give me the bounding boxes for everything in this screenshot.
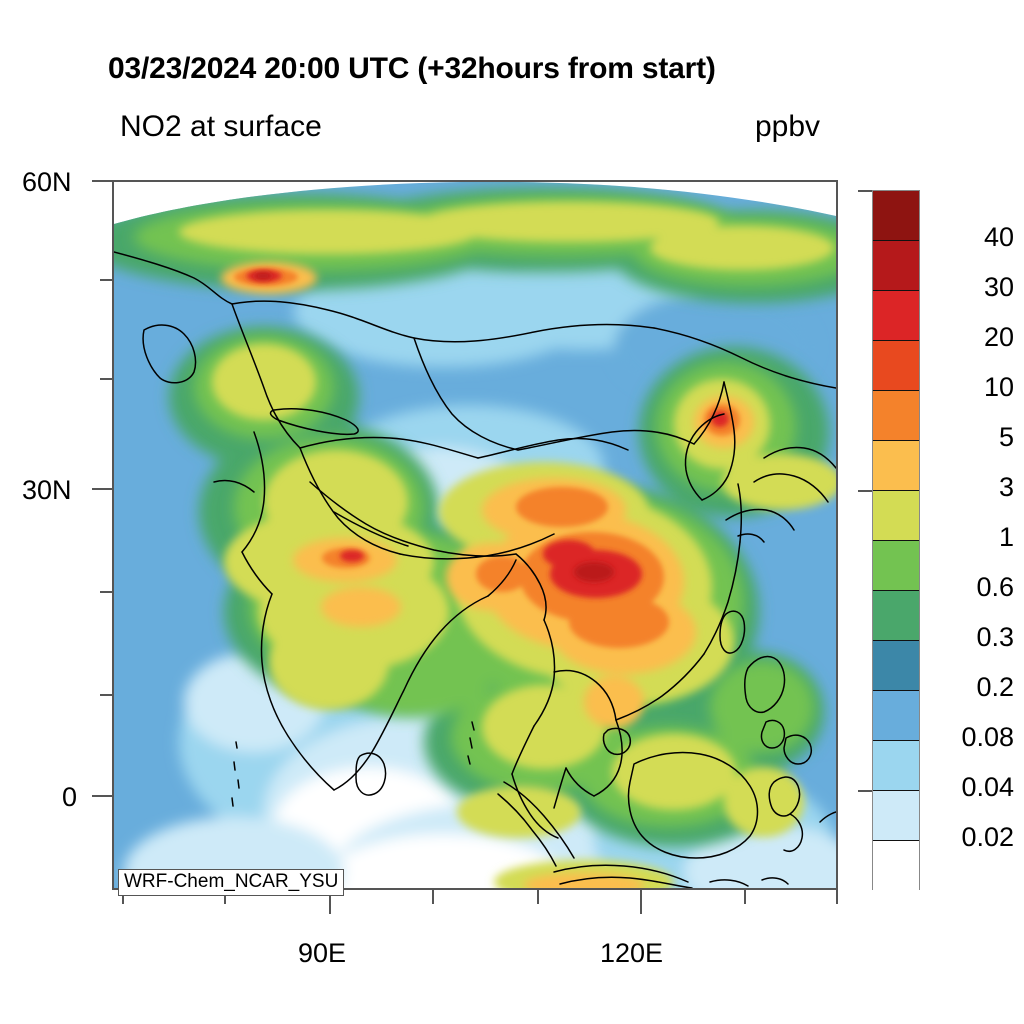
- y-tick-minor-20n: [100, 591, 114, 593]
- colorbar: [872, 190, 920, 890]
- colorbar-band-5: [873, 441, 919, 491]
- colorbar-label-0.6: 0.6: [928, 572, 1014, 603]
- y-tick-0: [92, 795, 114, 797]
- x-axis-label-120e: 120E: [600, 938, 663, 969]
- colorbar-tick-low: [858, 790, 872, 792]
- colorbar-band-13: [873, 841, 919, 891]
- colorbar-label-0.2: 0.2: [928, 672, 1014, 703]
- map-plot-area: [112, 180, 838, 890]
- colorbar-band-10: [873, 691, 919, 741]
- colorbar-label-3: 3: [928, 472, 1014, 503]
- colorbar-label-5: 5: [928, 422, 1014, 453]
- x-axis-label-90e: 90E: [298, 938, 346, 969]
- colorbar-label-0.02: 0.02: [928, 822, 1014, 853]
- colorbar-band-3: [873, 341, 919, 391]
- colorbar-tick-mid: [858, 490, 872, 492]
- colorbar-label-10: 10: [928, 372, 1014, 403]
- colorbar-label-30: 30: [928, 272, 1014, 303]
- figure-title: 03/23/2024 20:00 UTC (+32hours from star…: [108, 52, 716, 86]
- colorbar-band-12: [873, 791, 919, 841]
- colorbar-band-9: [873, 641, 919, 691]
- y-tick-minor-50n: [100, 279, 114, 281]
- field-label: NO2 at surface: [120, 110, 322, 144]
- colorbar-band-4: [873, 391, 919, 441]
- y-tick-minor-40n: [100, 378, 114, 380]
- colorbar-label-0.08: 0.08: [928, 722, 1014, 753]
- colorbar-label-1: 1: [928, 522, 1014, 553]
- colorbar-band-8: [873, 591, 919, 641]
- x-tick-minor-6: [836, 890, 838, 904]
- colorbar-band-1: [873, 241, 919, 291]
- colorbar-tick-top: [858, 190, 872, 192]
- colorbar-band-11: [873, 741, 919, 791]
- y-tick-60n: [92, 180, 114, 182]
- colorbar-band-7: [873, 541, 919, 591]
- x-tick-minor-5: [744, 890, 746, 904]
- x-tick-minor-4: [537, 890, 539, 904]
- model-attribution-label: WRF-Chem_NCAR_YSU: [118, 869, 344, 896]
- y-axis-label-60n: 60N: [22, 167, 72, 198]
- y-tick-30n: [92, 488, 114, 490]
- y-axis-label-0: 0: [62, 782, 77, 813]
- colorbar-label-0.04: 0.04: [928, 772, 1014, 803]
- y-tick-minor-10n: [100, 694, 114, 696]
- colorbar-label-40: 40: [928, 222, 1014, 253]
- x-tick-120e: [640, 890, 642, 914]
- colorbar-band-0: [873, 191, 919, 241]
- colorbar-label-0.3: 0.3: [928, 622, 1014, 653]
- x-tick-minor-3: [432, 890, 434, 904]
- no2-surface-map-figure: 03/23/2024 20:00 UTC (+32hours from star…: [0, 0, 1024, 1024]
- no2-concentration-map: [114, 182, 836, 888]
- y-axis-label-30n: 30N: [22, 475, 72, 506]
- units-label: ppbv: [755, 110, 820, 144]
- colorbar-band-2: [873, 291, 919, 341]
- colorbar-label-20: 20: [928, 322, 1014, 353]
- colorbar-band-6: [873, 491, 919, 541]
